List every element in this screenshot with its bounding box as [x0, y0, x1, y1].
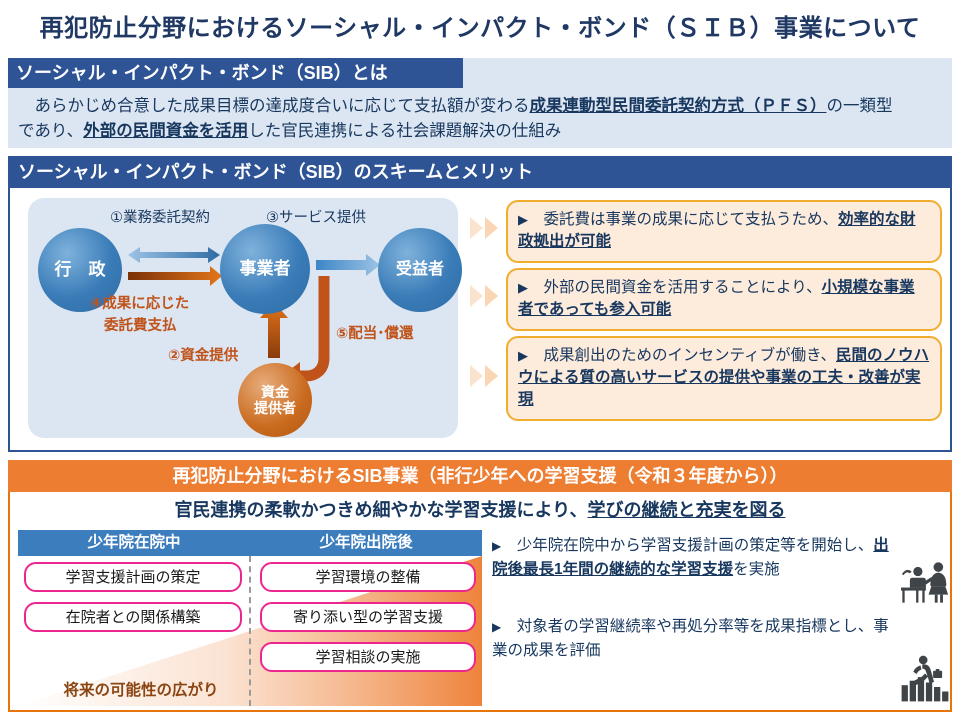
merit-text-3a: 成果創出のためのインセンティブが働き、: [528, 347, 836, 364]
table-header-after-release: 少年院出院後: [250, 530, 482, 556]
chevron-right-icon: [485, 217, 498, 239]
sib-definition-body: あらかじめ合意した成果目標の達成度合いに応じて支払額が変わる成果連動型民間委託契…: [18, 94, 946, 144]
diagram-label-service: ③サービス提供: [266, 206, 366, 227]
student-teacher-icon: [898, 560, 952, 608]
sib-project-subtitle: 官民連携の柔軟かつきめ細やかな学習支援により、学びの継続と充実を図る: [8, 496, 952, 522]
definition-text-2c: した官民連携による社会課題解決の仕組み: [248, 122, 561, 140]
list-item: 在院者との関係構築: [24, 602, 242, 632]
diagram-label-funding: ②資金提供: [168, 344, 238, 365]
diagram-node-operator: 事業者: [220, 224, 310, 314]
chevron-right-icon: [470, 365, 483, 387]
merit-arrow-group-2: [462, 268, 506, 324]
merit-box-2: ▶ 外部の民間資金を活用することにより、小規模な事業者であっても参入可能: [506, 268, 942, 331]
list-item: 学習支援計画の策定: [24, 562, 242, 592]
bullet-triangle-icon: ▶: [518, 212, 528, 227]
project-bullet-2: ▶ 対象者の学習継続率や再処分率等を成果指標とし、事業の成果を評価: [492, 615, 892, 662]
career-growth-icon: [898, 652, 952, 704]
merit-box-3: ▶ 成果創出のためのインセンティブが働き、民間のノウハウによる質の高いサービスの…: [506, 336, 942, 421]
future-possibility-label: 将来の可能性の広がり: [36, 678, 246, 700]
definition-text-2a: であり、: [18, 122, 83, 140]
chevron-right-icon: [485, 285, 498, 307]
table-divider: [249, 556, 251, 706]
merit-row-1: ▶ 委託費は事業の成果に応じて支払うため、効率的な財政拠出が可能: [462, 200, 948, 256]
sib-project-header: 再犯防止分野におけるSIB事業（非行少年への学習支援（令和３年度から））: [8, 460, 952, 492]
bullet-2-text-a: 対象者の学習継続率や再処分率等を成果指標とし、事業の成果を評価: [492, 618, 889, 659]
definition-text-1c: の一類型: [827, 97, 893, 115]
merit-text-1a: 委託費は事業の成果に応じて支払うため、: [528, 211, 838, 228]
subtitle-emphasis: 学びの継続と充実を図る: [587, 500, 785, 520]
list-item: 学習相談の実施: [260, 642, 476, 672]
definition-text-1a: あらかじめ合意した成果目標の達成度合いに応じて支払額が変わる: [18, 97, 530, 115]
sib-definition-header: ソーシャル・インパクト・ボンド（SIB）とは: [8, 58, 463, 88]
merit-arrow-group-3: [462, 336, 506, 416]
chevron-right-icon: [470, 285, 483, 307]
list-item: 学習環境の整備: [260, 562, 476, 592]
bullet-triangle-icon: ▶: [518, 280, 528, 295]
sib-scheme-header: ソーシャル・インパクト・ボンド（SIB）のスキームとメリット: [8, 156, 952, 188]
merit-row-3: ▶ 成果創出のためのインセンティブが働き、民間のノウハウによる質の高いサービスの…: [462, 336, 948, 416]
funder-label-line1: 資金: [261, 384, 289, 400]
diagram-label-contract: ①業務委託契約: [110, 206, 210, 227]
definition-emphasis-funds: 外部の民間資金を活用: [83, 122, 248, 140]
diagram-label-payment-2: 委託費支払: [104, 314, 177, 335]
table-header-in-facility: 少年院在院中: [18, 530, 250, 556]
list-item: 寄り添い型の学習支援: [260, 602, 476, 632]
definition-emphasis-pfs: 成果連動型民間委託契約方式（ＰＦＳ）: [530, 97, 827, 115]
diagram-node-beneficiary: 受益者: [378, 228, 462, 312]
bullet-1-text-c: を実施: [733, 561, 780, 578]
bullet-triangle-icon: ▶: [492, 620, 501, 634]
sib-scheme-diagram: 行 政 事業者 受益者 資金 提供者 ①業務委託契約 ③サービス提供 ④成果に応…: [28, 198, 458, 438]
project-bullet-1: ▶ 少年院在院中から学習支援計画の策定等を開始し、出院後最長1年間の継続的な学習…: [492, 534, 892, 581]
diagram-label-payment-1: ④成果に応じた: [90, 292, 189, 313]
diagram-node-funder: 資金 提供者: [238, 363, 312, 437]
diagram-label-dividend: ⑤配当･償還: [336, 322, 414, 343]
project-bullets: ▶ 少年院在院中から学習支援計画の策定等を開始し、出院後最長1年間の継続的な学習…: [492, 534, 892, 678]
bullet-triangle-icon: ▶: [492, 539, 501, 553]
merit-row-2: ▶ 外部の民間資金を活用することにより、小規模な事業者であっても参入可能: [462, 268, 948, 324]
funder-label-line2: 提供者: [254, 400, 296, 416]
support-phases-table: 少年院在院中 少年院出院後 学習支援計画の策定 在院者との関係構築 学習環境の整…: [18, 530, 482, 706]
merit-box-1: ▶ 委託費は事業の成果に応じて支払うため、効率的な財政拠出が可能: [506, 200, 942, 263]
bullet-1-text-a: 少年院在院中から学習支援計画の策定等を開始し、: [501, 537, 873, 554]
chevron-right-icon: [470, 217, 483, 239]
chevron-right-icon: [485, 365, 498, 387]
merit-text-2a: 外部の民間資金を活用することにより、: [528, 279, 822, 296]
page-title: 再犯防止分野におけるソーシャル・インパクト・ボンド（ＳＩＢ）事業について: [0, 8, 960, 43]
bullet-triangle-icon: ▶: [518, 348, 528, 363]
merit-arrow-group-1: [462, 200, 506, 256]
subtitle-text-a: 官民連携の柔軟かつきめ細やかな学習支援により、: [175, 500, 588, 520]
